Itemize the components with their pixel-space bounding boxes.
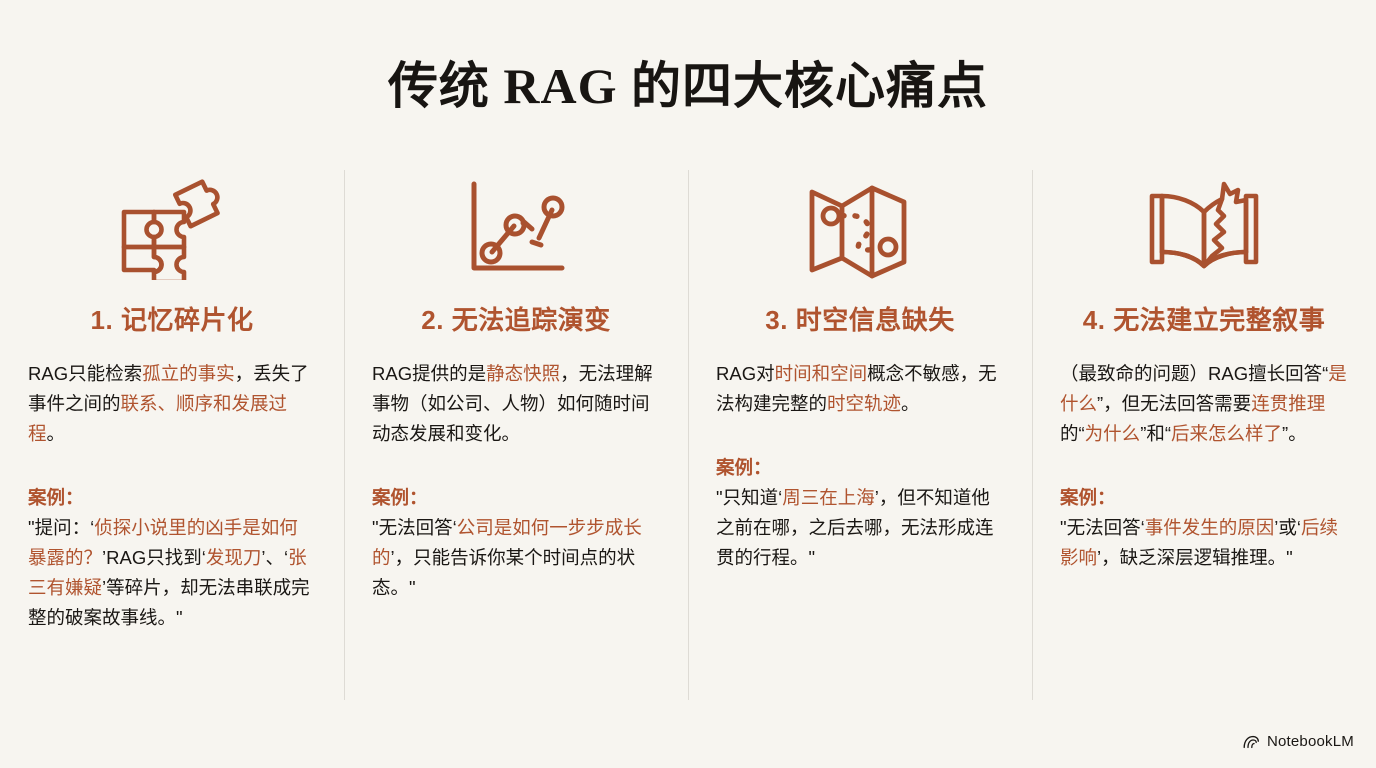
- plain-text: ’或‘: [1274, 517, 1301, 538]
- plain-text: RAG对: [716, 363, 775, 384]
- highlighted-text: 为什么: [1085, 423, 1141, 444]
- highlighted-text: 静态快照: [486, 363, 560, 384]
- case-block: 案例： "无法回答‘事件发生的原因’或‘后续影响’，缺乏深层逻辑推理。": [1060, 483, 1348, 573]
- case-text: "只知道‘周三在上海’，但不知道他之前在哪，之后去哪，无法形成连贯的行程。": [716, 483, 1004, 573]
- slide-root: 传统 RAG 的四大核心痛点 1. 记忆碎片化 RAG只能检索孤立的事实，丢失了…: [0, 0, 1376, 768]
- case-label: 案例：: [1060, 483, 1348, 513]
- case-text: "提问：‘侦探小说里的凶手是如何暴露的？’RAG只找到‘发现刀’、‘张三有嫌疑’…: [28, 513, 316, 633]
- plain-text: 。: [901, 393, 920, 414]
- folded-map-icon: [804, 168, 916, 288]
- highlighted-text: 后来怎么样了: [1171, 423, 1282, 444]
- plain-text: （最致命的问题）RAG擅长回答“: [1060, 363, 1328, 384]
- plain-text: ’，缺乏深层逻辑推理。": [1097, 547, 1293, 568]
- case-label: 案例：: [28, 483, 316, 513]
- plain-text: 。: [47, 423, 66, 444]
- highlighted-text: 周三在上海: [782, 487, 875, 508]
- plain-text: "无法回答‘: [372, 517, 457, 538]
- puzzle-pieces-icon: [116, 168, 228, 288]
- case-label: 案例：: [372, 483, 660, 513]
- plain-text: RAG只能检索: [28, 363, 142, 384]
- highlighted-text: 事件发生的原因: [1145, 517, 1275, 538]
- scatter-chart-icon: [462, 168, 570, 288]
- open-book-torn-page-icon: [1144, 168, 1264, 288]
- plain-text: ’，只能告诉你某个时间点的状态。": [372, 547, 635, 598]
- case-text: "无法回答‘公司是如何一步步成长的’，只能告诉你某个时间点的状态。": [372, 513, 660, 603]
- case-label: 案例：: [716, 453, 1004, 483]
- column-4: 4. 无法建立完整叙事 （最致命的问题）RAG擅长回答“是什么”，但无法回答需要…: [1032, 168, 1376, 573]
- column-3: 3. 时空信息缺失 RAG对时间和空间概念不敏感，无法构建完整的时空轨迹。 案例…: [688, 168, 1032, 573]
- column-heading: 2. 无法追踪演变: [421, 300, 610, 337]
- plain-text: "无法回答‘: [1060, 517, 1145, 538]
- plain-text: ’、‘: [261, 547, 288, 568]
- plain-text: ”。: [1282, 423, 1307, 444]
- notebooklm-arc-icon: [1243, 735, 1260, 749]
- highlighted-text: 连贯推理: [1251, 393, 1325, 414]
- highlighted-text: 发现刀: [206, 547, 262, 568]
- column-heading: 3. 时空信息缺失: [765, 300, 954, 337]
- column-1: 1. 记忆碎片化 RAG只能检索孤立的事实，丢失了事件之间的联系、顺序和发展过程…: [0, 168, 344, 633]
- column-2: 2. 无法追踪演变 RAG提供的是静态快照，无法理解事物（如公司、人物）如何随时…: [344, 168, 688, 603]
- column-body: （最致命的问题）RAG擅长回答“是什么”，但无法回答需要连贯推理的“为什么”和“…: [1060, 359, 1348, 449]
- column-body: RAG对时间和空间概念不敏感，无法构建完整的时空轨迹。: [716, 359, 1004, 419]
- case-block: 案例： "只知道‘周三在上海’，但不知道他之前在哪，之后去哪，无法形成连贯的行程…: [716, 453, 1004, 573]
- plain-text: ’RAG只找到‘: [102, 547, 206, 568]
- highlighted-text: 时空轨迹: [827, 393, 901, 414]
- highlighted-text: 孤立的事实: [142, 363, 235, 384]
- column-body: RAG只能检索孤立的事实，丢失了事件之间的联系、顺序和发展过程。: [28, 359, 316, 449]
- page-title: 传统 RAG 的四大核心痛点: [0, 0, 1376, 116]
- columns-container: 1. 记忆碎片化 RAG只能检索孤立的事实，丢失了事件之间的联系、顺序和发展过程…: [0, 168, 1376, 633]
- column-heading: 4. 无法建立完整叙事: [1083, 300, 1325, 337]
- highlighted-text: 时间和空间: [775, 363, 868, 384]
- notebooklm-label: NotebookLM: [1267, 733, 1354, 750]
- plain-text: ”和“: [1140, 423, 1171, 444]
- plain-text: "只知道‘: [716, 487, 782, 508]
- column-body: RAG提供的是静态快照，无法理解事物（如公司、人物）如何随时间动态发展和变化。: [372, 359, 660, 449]
- plain-text: RAG提供的是: [372, 363, 486, 384]
- notebooklm-watermark: NotebookLM: [1243, 733, 1354, 750]
- case-block: 案例： "提问：‘侦探小说里的凶手是如何暴露的？’RAG只找到‘发现刀’、‘张三…: [28, 483, 316, 633]
- column-heading: 1. 记忆碎片化: [91, 300, 254, 337]
- case-text: "无法回答‘事件发生的原因’或‘后续影响’，缺乏深层逻辑推理。": [1060, 513, 1348, 573]
- plain-text: 的“: [1060, 423, 1085, 444]
- plain-text: "提问：‘: [28, 517, 94, 538]
- plain-text: ”，但无法回答需要: [1097, 393, 1251, 414]
- case-block: 案例： "无法回答‘公司是如何一步步成长的’，只能告诉你某个时间点的状态。": [372, 483, 660, 603]
